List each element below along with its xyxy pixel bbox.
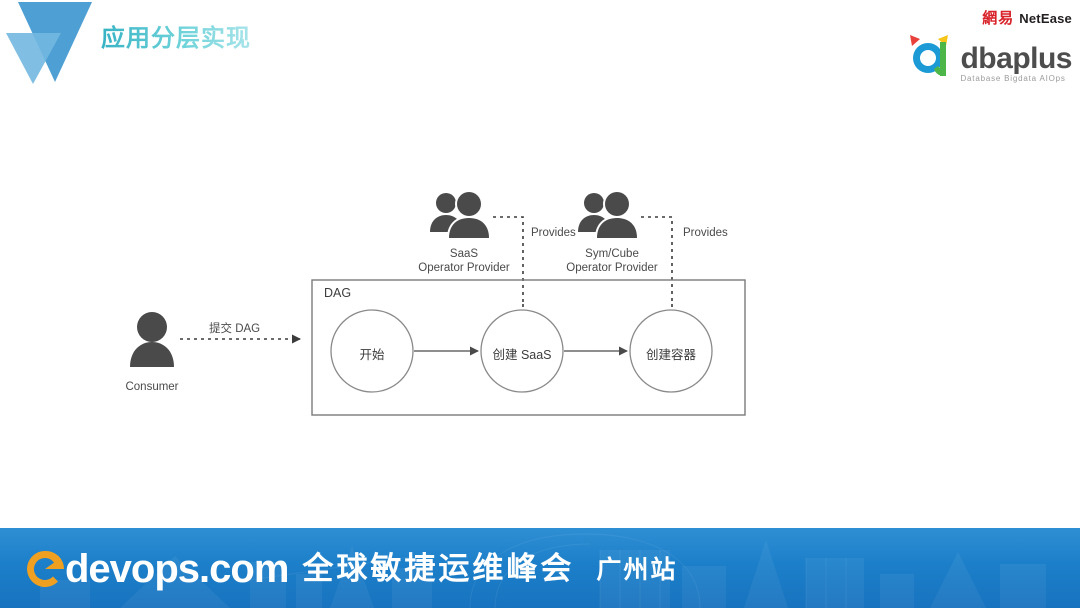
two-people-icon <box>430 190 491 238</box>
architecture-diagram: SaaS Operator Provider Sym/Cube Operator… <box>0 92 1080 512</box>
actor-label-symcube-operator-provider: Sym/Cube Operator Provider <box>542 247 682 275</box>
dbaplus-logo: dbaplus Database Bigdata AIOps <box>904 31 1072 83</box>
actor-label-line2: Operator Provider <box>394 261 534 275</box>
netease-english-wordmark: NetEase <box>1019 12 1072 25</box>
page-title: 应用分层实现 <box>101 18 251 53</box>
actor-label-line1: Consumer <box>102 380 202 394</box>
edge-label-submit-dag: 提交 DAG <box>209 320 260 336</box>
diagram-canvas <box>0 92 1080 512</box>
gdevops-g-icon <box>22 546 68 592</box>
dag-box-title: DAG <box>324 286 351 300</box>
edge-label-provides-symcube: Provides <box>683 227 728 239</box>
dbaplus-wordmark: dbaplus <box>960 45 1072 74</box>
dag-node-label-start: 开始 <box>332 344 412 363</box>
summit-name: 全球敏捷运维峰会 <box>302 554 574 585</box>
dbaplus-tagline: Database Bigdata AIOps <box>960 75 1072 83</box>
dbaplus-a-mark-icon <box>904 31 956 83</box>
gdevops-text: devops.com <box>65 549 288 589</box>
footer-banner: devops.com 全球敏捷运维峰会 广州站 <box>0 528 1080 608</box>
netease-logo: 網易 NetEase <box>982 11 1072 26</box>
actor-label-line1: Sym/Cube <box>542 247 682 261</box>
actor-label-consumer: Consumer <box>102 380 202 394</box>
slide-header: 应用分层实现 網易 NetEase dbaplus Database Bigda… <box>0 0 1080 92</box>
summit-city: 广州站 <box>596 557 677 582</box>
single-person-icon <box>130 312 174 367</box>
netease-chinese-wordmark: 網易 <box>982 11 1014 26</box>
actor-label-saas-operator-provider: SaaS Operator Provider <box>394 247 534 275</box>
footer-content: devops.com 全球敏捷运维峰会 广州站 <box>22 543 677 595</box>
gdevops-wordmark: devops.com <box>22 546 288 592</box>
edge-label-provides-saas: Provides <box>531 227 576 239</box>
two-people-icon <box>578 190 639 238</box>
actor-label-line2: Operator Provider <box>542 261 682 275</box>
dag-node-label-create-saas: 创建 SaaS <box>477 344 567 363</box>
double-triangle-logo-icon <box>6 0 92 84</box>
actor-label-line1: SaaS <box>394 247 534 261</box>
dag-node-label-create-container: 创建容器 <box>631 344 711 363</box>
